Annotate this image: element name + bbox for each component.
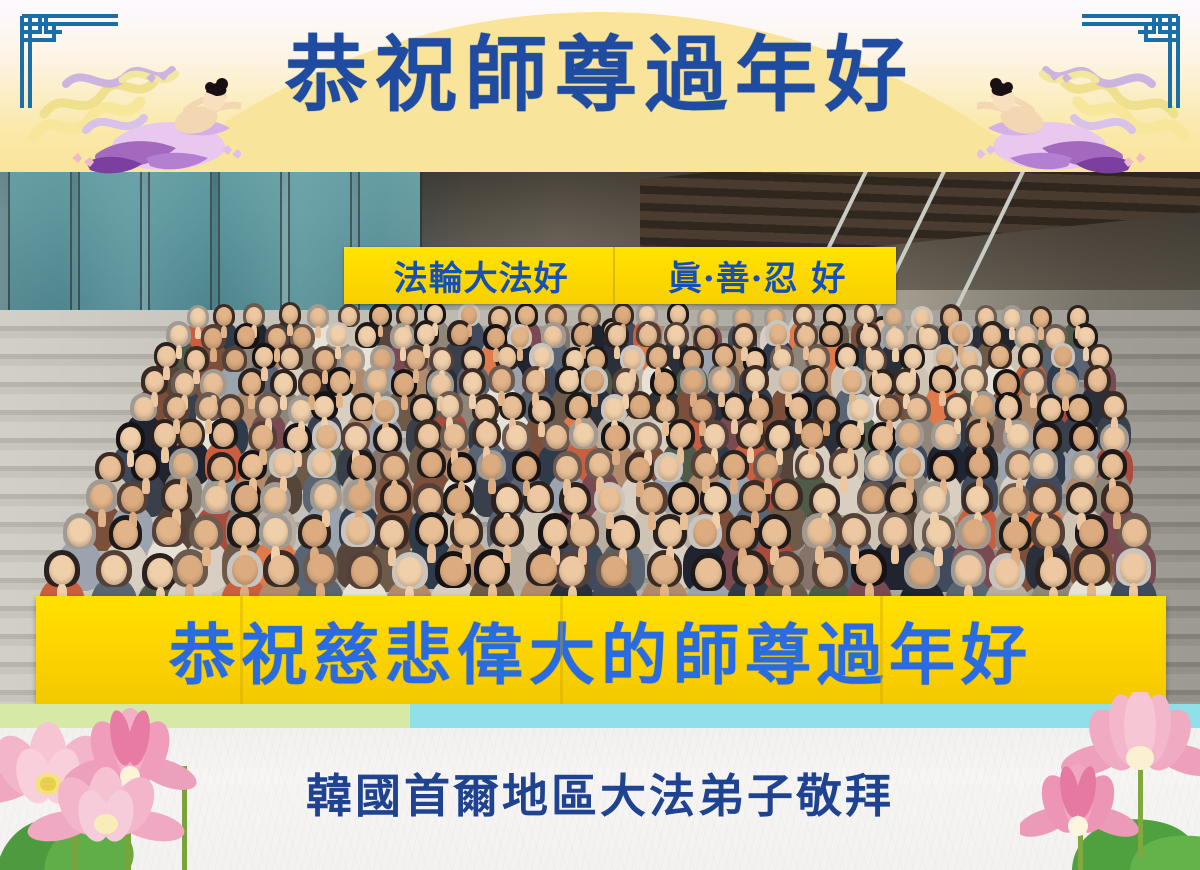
person-head <box>173 453 194 477</box>
banner-top-left-text: 法輪大法好 <box>394 251 569 300</box>
person-head <box>969 423 990 447</box>
person-head <box>351 455 372 479</box>
person-head <box>1079 554 1105 584</box>
person-head <box>506 425 527 449</box>
person-head <box>101 555 127 585</box>
heshi-hands <box>287 324 293 337</box>
heshi-hands <box>210 348 216 362</box>
person-head <box>216 307 232 326</box>
person-head <box>264 487 287 513</box>
person-head <box>444 424 465 448</box>
person-head <box>801 423 822 447</box>
person-head <box>346 517 371 545</box>
person-head <box>654 372 674 395</box>
person-head <box>316 350 334 371</box>
person-head <box>570 519 595 547</box>
person-head <box>418 488 441 514</box>
person-head <box>1024 371 1044 394</box>
person-head <box>1120 553 1146 583</box>
person-head <box>407 349 425 370</box>
person-head <box>850 399 870 422</box>
person-head <box>1103 427 1124 451</box>
person-head <box>879 398 899 421</box>
heshi-hands <box>673 346 679 360</box>
person-head <box>273 452 294 476</box>
person-head <box>205 486 228 512</box>
person-head <box>1022 347 1040 368</box>
person-head <box>651 555 677 585</box>
heshi-hands <box>764 478 772 494</box>
person-head <box>611 520 636 548</box>
person-head <box>157 346 175 367</box>
person-head <box>840 424 861 448</box>
heshi-hands <box>195 327 201 340</box>
person-head <box>235 485 258 511</box>
person-head <box>899 453 920 477</box>
person-head <box>281 348 299 369</box>
heshi-hands <box>350 370 356 384</box>
person-head <box>67 518 92 546</box>
person-head <box>454 518 479 546</box>
person-head <box>966 486 989 512</box>
person-head <box>749 398 769 421</box>
person-head <box>932 369 952 392</box>
person-head <box>274 373 294 396</box>
heshi-hands <box>280 395 287 410</box>
person-head <box>730 520 755 548</box>
person-head <box>451 324 469 345</box>
person-head <box>926 520 951 548</box>
person-head <box>345 426 366 450</box>
person-head <box>156 517 181 545</box>
person-head <box>715 346 733 367</box>
heshi-hands <box>161 447 169 463</box>
heshi-hands <box>142 478 150 494</box>
person-head <box>769 324 787 345</box>
person-head <box>1033 309 1049 328</box>
person-head <box>817 557 843 587</box>
person-head <box>779 370 799 393</box>
person-head <box>1070 487 1093 513</box>
heshi-hands <box>1038 327 1044 340</box>
person-head <box>199 397 219 420</box>
person-head <box>704 486 727 512</box>
person-head <box>573 423 594 447</box>
person-head <box>394 373 414 396</box>
person-head <box>367 370 387 393</box>
person-head <box>463 372 483 395</box>
heshi-hands <box>202 547 211 566</box>
heshi-hands <box>388 547 397 566</box>
heshi-hands <box>503 545 512 564</box>
person-head <box>527 485 550 511</box>
person-head <box>704 424 725 448</box>
person-head <box>574 325 592 346</box>
person-head <box>479 555 505 585</box>
person-head <box>492 369 512 392</box>
heshi-hands <box>400 347 406 361</box>
person-head <box>605 425 626 449</box>
person-head <box>813 488 836 514</box>
heshi-hands <box>205 419 212 434</box>
person-head <box>1104 396 1124 419</box>
heshi-hands <box>1113 512 1121 530</box>
person-head <box>807 518 832 546</box>
person-head <box>418 424 439 448</box>
person-head <box>447 488 470 514</box>
banner-main-text: 恭祝慈悲偉大的師尊過年好 <box>169 602 1033 698</box>
heshi-hands <box>427 544 436 563</box>
person-head <box>481 454 502 478</box>
person-head <box>147 558 173 588</box>
person-head <box>608 325 626 346</box>
person-head <box>695 558 721 588</box>
person-head <box>394 327 412 348</box>
person-head <box>933 456 954 480</box>
person-head <box>177 555 203 585</box>
person-head <box>419 517 444 545</box>
person-head <box>935 424 956 448</box>
person-head <box>291 400 311 423</box>
person-head <box>584 370 604 393</box>
person-head <box>890 487 913 513</box>
heshi-hands <box>176 345 182 359</box>
person-head <box>952 324 970 345</box>
heshi-hands <box>612 449 620 465</box>
person-head <box>1041 398 1061 421</box>
person-head <box>353 397 373 420</box>
person-head <box>351 556 377 586</box>
person-head <box>907 398 927 421</box>
heshi-hands <box>488 478 496 494</box>
person-head <box>743 485 766 511</box>
person-head <box>904 348 922 369</box>
heshi-hands <box>591 392 598 407</box>
heshi-hands <box>939 391 946 406</box>
person-head <box>1088 369 1108 392</box>
person-head <box>683 370 703 393</box>
heshi-hands <box>891 545 900 564</box>
person-head <box>204 328 222 349</box>
heshi-hands <box>823 421 830 436</box>
heshi-hands <box>517 347 523 361</box>
person-head <box>344 350 362 371</box>
person-head <box>964 369 984 392</box>
person-head <box>134 397 154 420</box>
heshi-hands <box>648 512 656 530</box>
person-head <box>211 457 232 481</box>
heshi-hands <box>731 419 738 434</box>
person-head <box>866 350 884 371</box>
person-head <box>805 369 825 392</box>
person-head <box>232 517 257 545</box>
person-head <box>656 399 676 422</box>
person-head <box>923 486 946 512</box>
heshi-hands <box>401 395 408 410</box>
person-head <box>1004 309 1020 328</box>
person-head <box>670 423 691 447</box>
banner-fold-line <box>240 596 243 704</box>
person-head <box>180 422 201 446</box>
person-head <box>623 349 641 370</box>
person-head <box>165 484 188 510</box>
person-head <box>955 555 981 585</box>
person-head <box>213 423 234 447</box>
person-head <box>187 350 205 371</box>
person-head <box>440 556 466 586</box>
footer-strip-cyan <box>410 704 1200 728</box>
person-head <box>259 396 279 419</box>
footer-caption: 韓國首爾地區大法弟子敬拜 <box>0 760 1200 826</box>
person-head <box>737 555 763 585</box>
person-head <box>311 452 332 476</box>
person-head <box>330 371 350 394</box>
person-head <box>348 484 371 510</box>
person-head <box>994 558 1020 588</box>
person-head <box>154 423 175 447</box>
heshi-hands <box>677 447 685 463</box>
heshi-hands <box>747 447 755 463</box>
person-head <box>1079 519 1104 547</box>
person-head <box>511 327 529 348</box>
heshi-hands <box>261 367 267 381</box>
person-head <box>120 427 141 451</box>
person-head <box>817 399 837 422</box>
person-head <box>723 454 744 478</box>
person-head <box>518 306 534 325</box>
person-head <box>962 519 987 547</box>
person-head <box>670 305 686 324</box>
heshi-hands <box>538 422 545 437</box>
banner-fold-line <box>560 596 563 704</box>
banner-falun-dafa-hao: 法輪大法好 眞·善·忍 好 <box>344 247 896 304</box>
person-head <box>226 350 244 371</box>
person-head <box>872 426 893 450</box>
person-head <box>1033 487 1056 513</box>
person-head <box>49 555 75 585</box>
person-head <box>170 325 188 346</box>
person-head <box>384 484 407 510</box>
person-head <box>232 555 258 585</box>
person-head <box>543 519 568 547</box>
person-head <box>263 518 288 546</box>
heshi-hands <box>193 370 199 384</box>
heshi-hands <box>315 326 321 339</box>
person-head <box>314 396 334 419</box>
person-head <box>1033 453 1054 477</box>
person-head <box>372 307 388 326</box>
heshi-hands <box>335 346 341 360</box>
person-head <box>604 398 624 421</box>
banner-top-right-text: 眞·善·忍 好 <box>668 251 847 300</box>
banner-fold-line <box>880 596 883 704</box>
heshi-hands <box>892 348 898 362</box>
heshi-hands <box>730 478 738 494</box>
person-head <box>598 486 621 512</box>
person-head <box>658 456 679 480</box>
person-head <box>838 347 856 368</box>
heshi-hands <box>336 393 343 408</box>
person-head <box>556 456 577 480</box>
person-head <box>1069 398 1089 421</box>
person-head <box>396 557 422 587</box>
person-head <box>1056 374 1076 397</box>
person-head <box>383 456 404 480</box>
person-head <box>833 453 854 477</box>
page-title: 恭祝師尊過年好 <box>0 32 1200 118</box>
person-head <box>194 520 219 548</box>
person-head <box>307 554 333 584</box>
person-head <box>413 398 433 421</box>
person-head <box>649 347 667 368</box>
person-head <box>973 395 993 418</box>
person-head <box>1003 521 1028 549</box>
heshi-hands <box>614 346 620 360</box>
person-head <box>991 346 1009 367</box>
person-head <box>919 328 937 349</box>
heshi-hands <box>294 451 302 467</box>
heshi-hands <box>840 476 848 492</box>
person-head <box>302 519 327 547</box>
person-head <box>757 454 778 478</box>
person-head <box>1122 519 1147 547</box>
person-head <box>533 347 551 368</box>
person-head <box>1009 454 1030 478</box>
person-head <box>725 397 745 420</box>
heshi-hands <box>248 394 255 409</box>
person-head <box>433 350 451 371</box>
heshi-hands <box>163 366 169 380</box>
person-head <box>697 328 715 349</box>
person-head <box>516 456 537 480</box>
person-head <box>860 327 878 348</box>
banner-main-greeting: 恭祝慈悲偉大的師尊過年好 <box>36 596 1166 704</box>
person-head <box>1102 454 1123 478</box>
person-head <box>909 557 935 587</box>
person-head <box>1036 518 1061 546</box>
person-head <box>630 395 650 418</box>
person-head <box>530 554 556 584</box>
person-head <box>1106 486 1129 512</box>
person-head <box>569 396 589 419</box>
heshi-hands <box>378 325 384 338</box>
person-head <box>502 396 522 419</box>
person-head <box>1040 557 1066 587</box>
person-head <box>559 370 579 393</box>
person-head <box>601 556 627 586</box>
person-head <box>1077 327 1095 348</box>
heshi-hands <box>662 421 669 436</box>
person-head <box>564 487 587 513</box>
heshi-hands <box>98 509 106 527</box>
person-head <box>1054 346 1072 367</box>
heshi-hands <box>1083 347 1089 361</box>
person-head <box>857 305 873 324</box>
heshi-hands <box>1030 393 1037 408</box>
heshi-hands <box>1009 327 1015 340</box>
heshi-hands <box>322 370 328 384</box>
heshi-hands <box>934 547 943 566</box>
footer-strip-green <box>0 704 410 728</box>
person-head <box>476 422 497 446</box>
person-head <box>417 324 435 345</box>
person-head <box>637 426 658 450</box>
heshi-hands <box>718 392 725 407</box>
person-head <box>797 326 815 347</box>
person-head <box>769 425 790 449</box>
person-head <box>440 395 460 418</box>
person-head <box>842 370 862 393</box>
person-head <box>242 372 262 395</box>
person-head <box>99 456 120 480</box>
greeting-card: 法輪大法好 眞·善·忍 好 恭祝慈悲偉大的師尊過年好 <box>0 0 1200 870</box>
person-head <box>775 483 798 509</box>
person-head <box>1007 424 1028 448</box>
heshi-hands <box>274 348 280 362</box>
person-head <box>789 397 809 420</box>
person-head <box>616 372 636 395</box>
person-head <box>113 520 138 548</box>
person-head <box>451 457 472 481</box>
heshi-hands <box>127 450 135 466</box>
person-head <box>746 369 766 392</box>
person-head <box>252 425 273 449</box>
person-head <box>862 486 885 512</box>
person-head <box>762 519 787 547</box>
heshi-hands <box>413 369 419 383</box>
person-head <box>856 554 882 584</box>
person-head <box>883 517 908 545</box>
banner-top-seam <box>613 247 615 304</box>
person-head <box>496 487 519 513</box>
